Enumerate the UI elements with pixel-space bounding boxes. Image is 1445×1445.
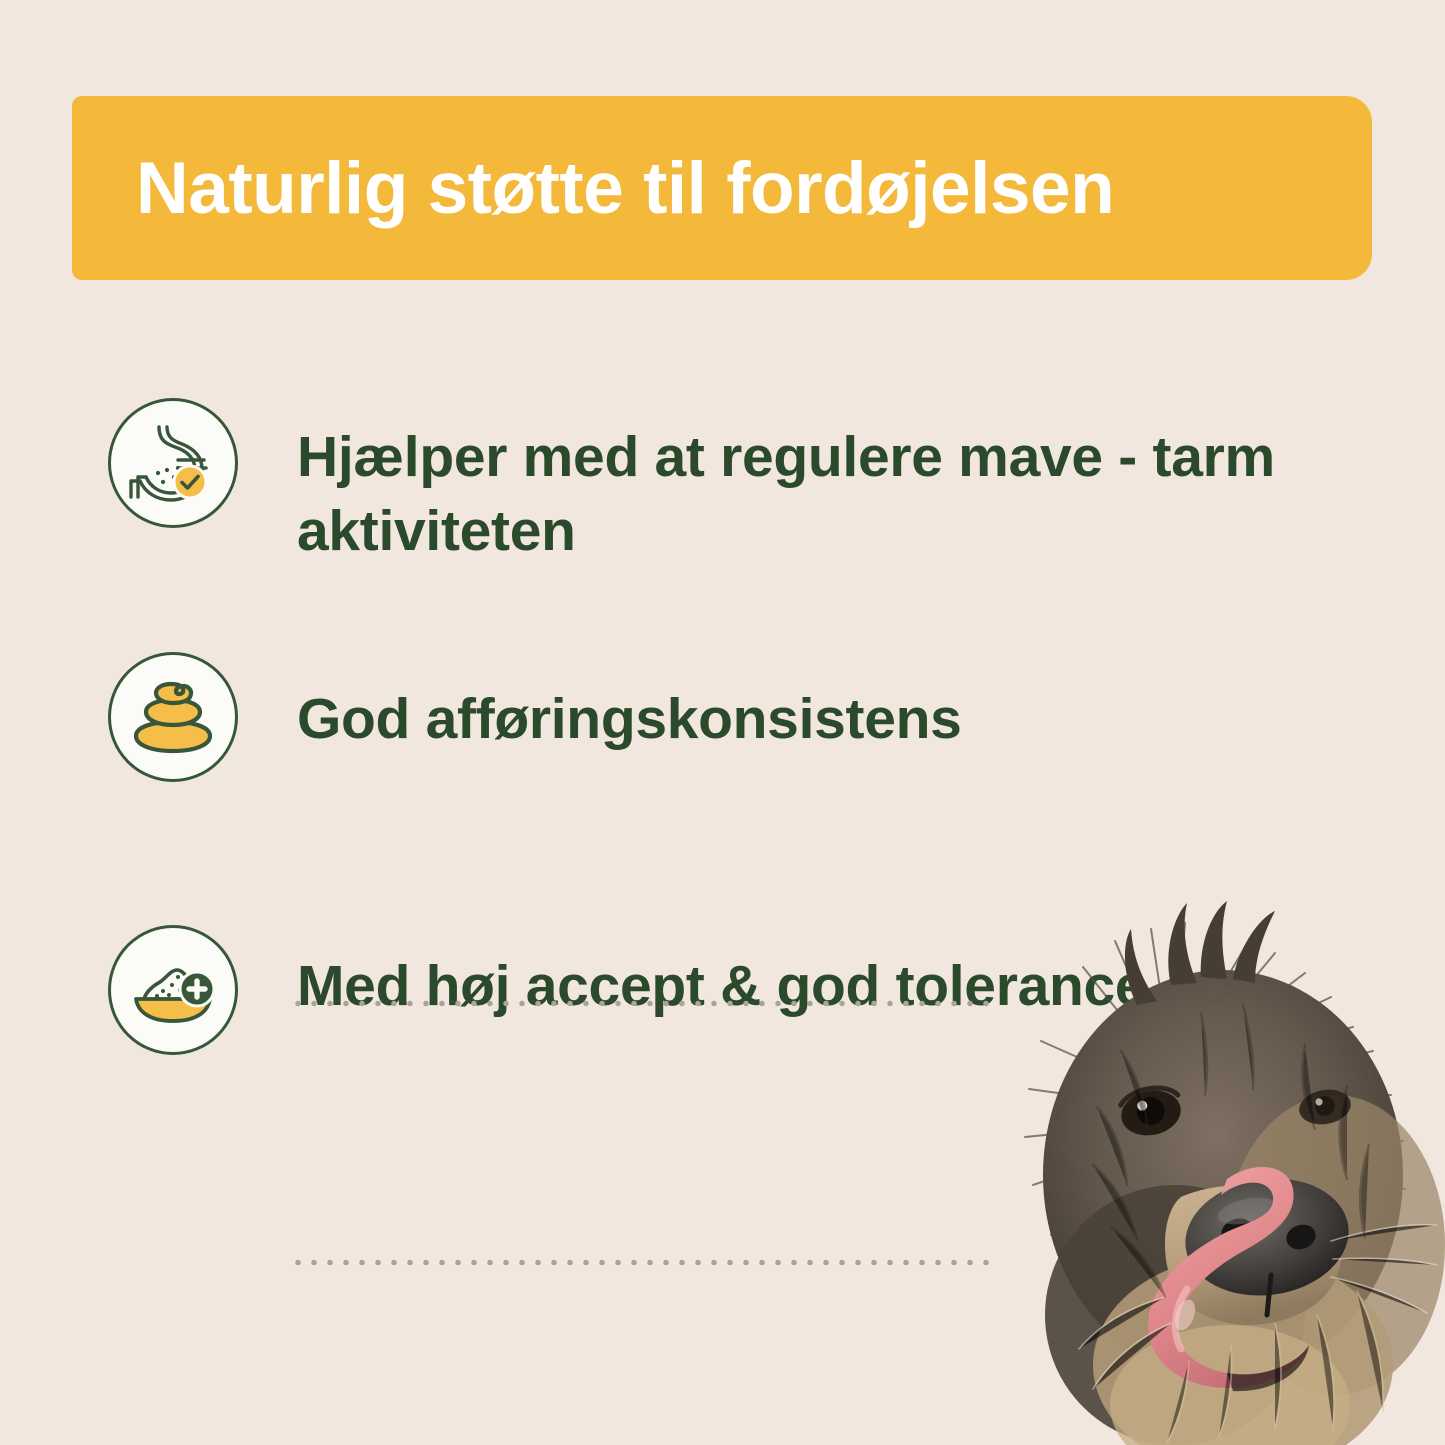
list-item-label: God afføringskonsistens xyxy=(297,682,962,756)
food-bowl-plus-icon xyxy=(108,925,238,1055)
list-item: God afføringskonsistens xyxy=(108,652,962,782)
list-divider xyxy=(290,1000,990,1007)
list-item: Med høj accept & god tolerance xyxy=(108,925,1146,1055)
page-title: Naturlig støtte til fordøjelsen xyxy=(136,152,1114,225)
stomach-check-icon xyxy=(108,398,238,528)
promo-card: Naturlig støtte til fordøjelsen xyxy=(0,0,1445,1445)
header-banner: Naturlig støtte til fordøjelsen xyxy=(72,96,1372,280)
list-divider xyxy=(290,1259,990,1266)
stool-icon xyxy=(108,652,238,782)
list-item-label: Hjælper med at regulere mave - tarm akti… xyxy=(297,420,1367,568)
list-item: Hjælper med at regulere mave - tarm akti… xyxy=(108,398,1367,568)
list-item-label: Med høj accept & god tolerance xyxy=(297,949,1146,1023)
